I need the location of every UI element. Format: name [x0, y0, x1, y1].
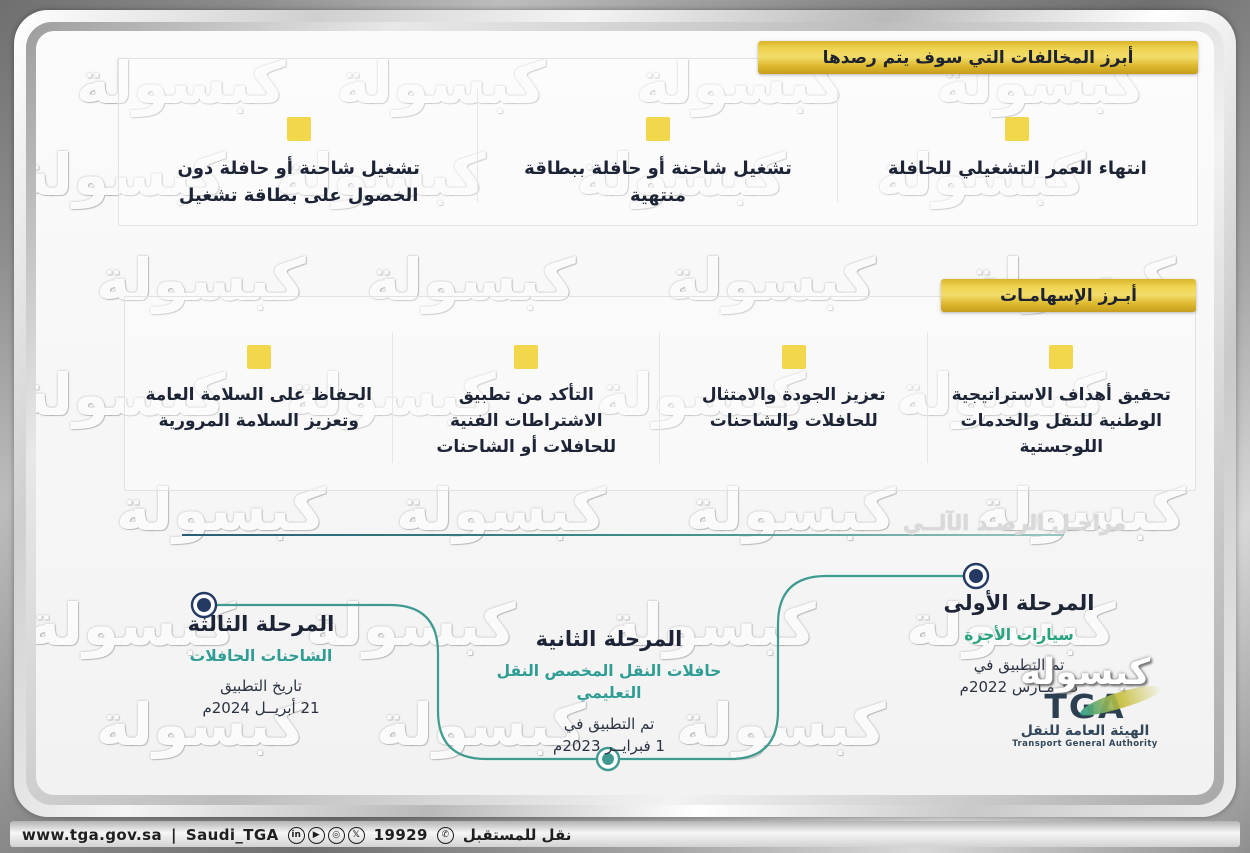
footer-content: نقل للمستقبل ✆ 19929 𝕏 ◎ ▶ in Saudi_TGA …	[22, 826, 571, 844]
bullet-square-icon	[1049, 345, 1073, 369]
violation-item-label: انتهاء العمر التشغيلي للحافلة	[863, 155, 1172, 182]
bullet-square-icon	[782, 345, 806, 369]
bullet-square-icon	[646, 117, 670, 141]
timeline-node-phase-1-inner	[969, 569, 983, 583]
contributions-section-header: أبـرز الإسهامـات	[941, 279, 1196, 312]
infographic-canvas: كبسولة كبسولة كبسولة كبسولة كبسولة كبسول…	[36, 31, 1214, 795]
timeline-phase-3: المرحلة الثالثة الشاحنات الحافلات تاريخ …	[146, 612, 376, 720]
violation-item-label: تشغيل شاحنة أو حافلة دون الحصول على بطاق…	[144, 155, 453, 210]
footer: نقل للمستقبل ✆ 19929 𝕏 ◎ ▶ in Saudi_TGA …	[0, 815, 1250, 853]
social-icons-group: 𝕏 ◎ ▶ in	[288, 827, 365, 844]
x-twitter-icon[interactable]: 𝕏	[348, 827, 365, 844]
tga-logo: كبسولة TGA الهيئة العامة للنقل Transport…	[980, 652, 1190, 749]
logo-name-ar: الهيئة العامة للنقل	[980, 723, 1190, 739]
violations-section-header: أبرز المخالفات التي سوف يتم رصدها	[758, 41, 1198, 74]
contribution-item-label: الحفاظ على السلامة العامة وتعزيز السلامة…	[144, 383, 374, 435]
timeline-node-phase-3-inner	[197, 598, 211, 612]
phase-3-subject: الشاحنات الحافلات	[146, 645, 376, 667]
bullet-square-icon	[247, 345, 271, 369]
violations-panel: انتهاء العمر التشغيلي للحافلة تشغيل شاحن…	[118, 58, 1198, 226]
phase-2-name: المرحلة الثانية	[494, 627, 724, 651]
footer-handle: Saudi_TGA	[186, 826, 279, 844]
timeline-phase-2: المرحلة الثانية حافلات النقل المخصص النق…	[494, 627, 724, 757]
contribution-item-label: التأكد من تطبيق الاشتراطات الفنية للحافل…	[411, 383, 641, 460]
phase-2-date-value: 1 فبرايــر 2023م	[494, 736, 724, 758]
phase-3-date-label: تاريخ التطبيق	[146, 676, 376, 698]
bullet-square-icon	[1005, 117, 1029, 141]
footer-website[interactable]: www.tga.gov.sa	[22, 826, 162, 844]
phase-3-date-value: 21 أبريــل 2024م	[146, 698, 376, 720]
footer-tagline: نقل للمستقبل	[463, 826, 572, 844]
violation-item-2: تشغيل شاحنة أو حافلة ببطاقة منتهية	[478, 59, 837, 225]
poster-background: كبسولة كبسولة كبسولة كبسولة كبسولة كبسول…	[0, 0, 1250, 853]
phase-2-date-label: تم التطبيق في	[494, 714, 724, 736]
instagram-icon[interactable]: ◎	[328, 827, 345, 844]
phase-3-name: المرحلة الثالثة	[146, 612, 376, 636]
violations-items-row: انتهاء العمر التشغيلي للحافلة تشغيل شاحن…	[119, 59, 1197, 225]
bullet-square-icon	[514, 345, 538, 369]
violation-item-label: تشغيل شاحنة أو حافلة ببطاقة منتهية	[504, 155, 813, 210]
violation-item-3: انتهاء العمر التشغيلي للحافلة	[838, 59, 1197, 225]
phase-1-name: المرحلة الأولى	[904, 591, 1134, 615]
phase-1-subject: سيارات الأجرة	[904, 624, 1134, 646]
logo-name-en: Transport General Authority	[980, 739, 1190, 749]
bullet-square-icon	[287, 117, 311, 141]
phone-icon: ✆	[437, 827, 454, 844]
violation-item-1: تشغيل شاحنة أو حافلة دون الحصول على بطاق…	[119, 59, 478, 225]
footer-phone: 19929	[374, 826, 428, 844]
contribution-item-label: تعزيز الجودة والامتثال للحافلات والشاحنا…	[679, 383, 909, 435]
youtube-icon[interactable]: ▶	[308, 827, 325, 844]
linkedin-icon[interactable]: in	[288, 827, 305, 844]
footer-separator: |	[171, 826, 177, 844]
contribution-item-label: تحقيق أهداف الاستراتيجية الوطنية للنقل و…	[946, 383, 1176, 460]
phase-2-subject: حافلات النقل المخصص النقل التعليمي	[494, 660, 724, 705]
